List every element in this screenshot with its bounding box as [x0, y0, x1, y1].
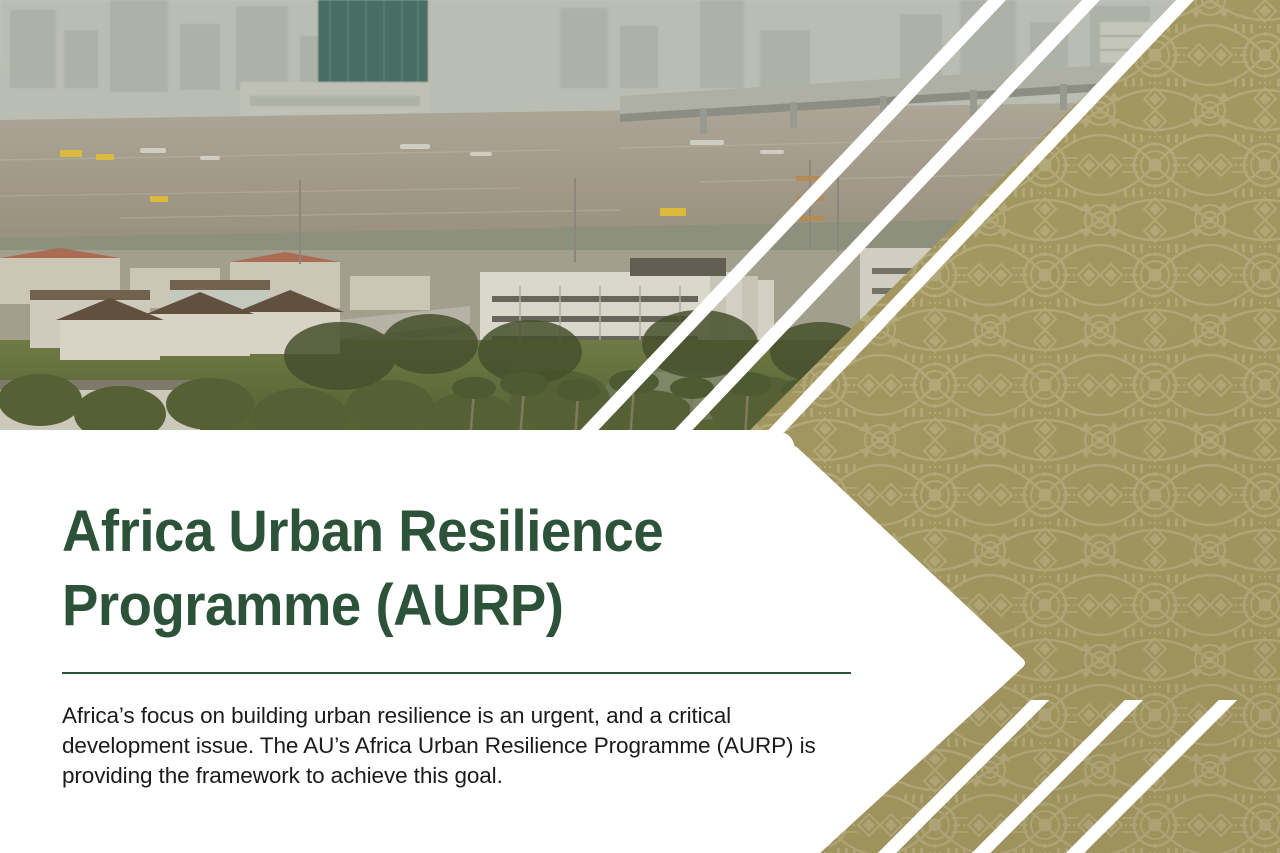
- poster-description: Africa’s focus on building urban resilie…: [62, 701, 862, 791]
- poster-text-block: Africa Urban Resilience Programme (AURP)…: [62, 495, 862, 791]
- poster-canvas: Africa Urban Resilience Programme (AURP)…: [0, 0, 1280, 853]
- page-title: Africa Urban Resilience Programme (AURP): [62, 495, 814, 643]
- title-divider: [62, 672, 851, 674]
